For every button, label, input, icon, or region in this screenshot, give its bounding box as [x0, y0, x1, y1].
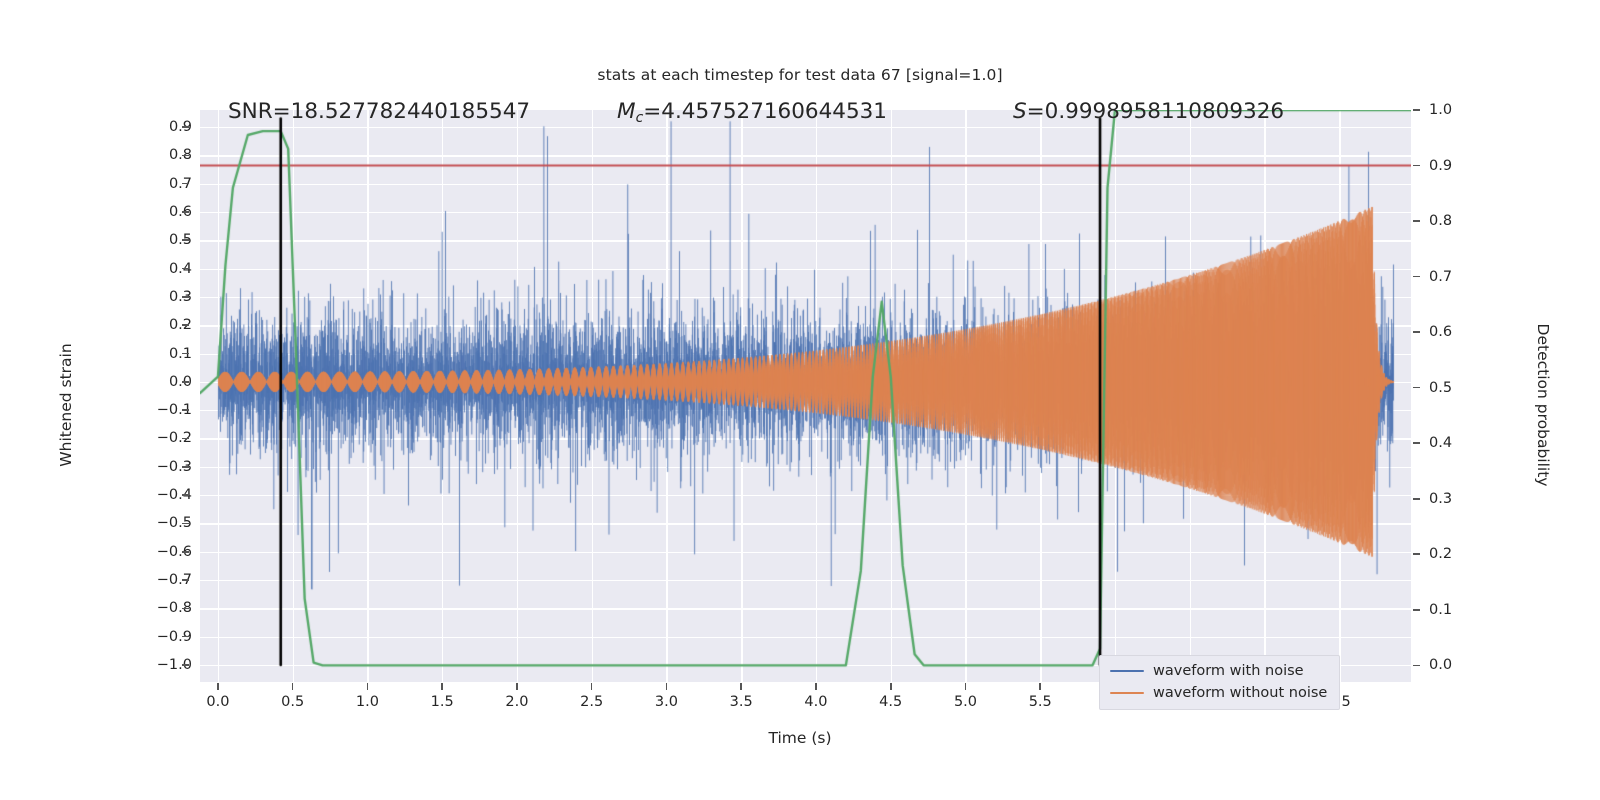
x-tick-label: 5.5 [1029, 694, 1052, 710]
y-tick-mark-left [182, 438, 189, 440]
y-tick-mark-right [1413, 109, 1420, 111]
y-tick-mark-right [1413, 498, 1420, 500]
x-tick-label: 1.0 [356, 694, 379, 710]
x-tick-mark [441, 683, 443, 690]
y-tick-mark-left [182, 551, 189, 553]
y-tick-label-right: 0.3 [1429, 491, 1452, 507]
legend-label: waveform with noise [1153, 663, 1304, 679]
overlay-layer [200, 110, 1411, 682]
x-tick-mark [217, 683, 219, 690]
x-tick-label: 5.0 [954, 694, 977, 710]
x-tick-mark [516, 683, 518, 690]
annotation-chirp-mass: Mc=4.457527160644531 [617, 99, 887, 126]
y-tick-mark-left [182, 211, 189, 213]
y-tick-label-right: 0.1 [1429, 602, 1452, 618]
annotation-mc-value: 4.457527160644531 [661, 99, 887, 124]
x-tick-label: 3.0 [655, 694, 678, 710]
y-tick-mark-left [182, 296, 189, 298]
legend-color-swatch [1110, 692, 1144, 695]
annotation-s-value: 0.9998958110809326 [1045, 99, 1284, 124]
y-tick-mark-left [182, 381, 189, 383]
y-tick-mark-left [182, 466, 189, 468]
y-tick-mark-right [1413, 276, 1420, 278]
annotation-snr: SNR=18.527782440185547 [228, 99, 530, 124]
annotation-mc-symbol: M [617, 99, 636, 124]
y-tick-mark-left [182, 155, 189, 157]
y-tick-label-right: 1.0 [1429, 102, 1452, 118]
annotation-s-symbol: S [1013, 99, 1027, 124]
y-tick-mark-right [1413, 387, 1420, 389]
y-tick-mark-right [1413, 165, 1420, 167]
x-tick-label: 3.5 [730, 694, 753, 710]
x-tick-mark [815, 683, 817, 690]
legend-item[interactable]: waveform with noise [1110, 663, 1327, 679]
y-tick-label-right: 0.8 [1429, 213, 1452, 229]
plot-area [200, 110, 1411, 682]
y-tick-label-right: 0.7 [1429, 269, 1452, 285]
y-tick-mark-left [182, 268, 189, 270]
y-tick-mark-left [182, 239, 189, 241]
y-tick-mark-left [182, 523, 189, 525]
y-tick-label-right: 0.9 [1429, 158, 1452, 174]
y-tick-label-right: 0.5 [1429, 380, 1452, 396]
x-tick-mark [666, 683, 668, 690]
chart-title: stats at each timestep for test data 67 … [0, 66, 1600, 84]
y-tick-label-right: 0.6 [1429, 324, 1452, 340]
annotation-s-equals: = [1027, 99, 1045, 124]
x-tick-mark [591, 683, 593, 690]
x-tick-mark [890, 683, 892, 690]
y-tick-mark-right [1413, 220, 1420, 222]
x-tick-mark [292, 683, 294, 690]
y-tick-mark-left [182, 664, 189, 666]
x-tick-mark [740, 683, 742, 690]
y-tick-mark-right [1413, 331, 1420, 333]
y-tick-mark-right [1413, 442, 1420, 444]
y-tick-label-right: 0.0 [1429, 657, 1452, 673]
annotation-score: S=0.9998958110809326 [1013, 99, 1284, 124]
y-tick-mark-left [182, 183, 189, 185]
y-tick-mark-right [1413, 665, 1420, 667]
y-axis-label-right: Detection probability [1534, 275, 1552, 535]
legend-item[interactable]: waveform without noise [1110, 685, 1327, 701]
x-tick-label: 4.0 [804, 694, 827, 710]
y-tick-mark-left [182, 409, 189, 411]
y-tick-mark-left [182, 636, 189, 638]
y-tick-mark-right [1413, 609, 1420, 611]
y-tick-label-right: 0.4 [1429, 435, 1452, 451]
y-tick-label-right: 0.2 [1429, 546, 1452, 562]
x-tick-label: 4.5 [879, 694, 902, 710]
annotation-snr-text: SNR=18.527782440185547 [228, 99, 530, 124]
y-tick-mark-left [182, 494, 189, 496]
x-tick-label: 2.0 [505, 694, 528, 710]
x-tick-mark [367, 683, 369, 690]
x-tick-mark [1039, 683, 1041, 690]
figure-canvas: stats at each timestep for test data 67 … [0, 0, 1600, 800]
y-axis-label-left: Whitened strain [57, 275, 75, 535]
x-tick-mark [965, 683, 967, 690]
x-tick-label: 1.5 [431, 694, 454, 710]
annotation-mc-equals: = [643, 99, 661, 124]
y-tick-mark-left [182, 126, 189, 128]
legend: waveform with noisewaveform without nois… [1099, 655, 1340, 710]
x-axis-label: Time (s) [0, 729, 1600, 747]
legend-label: waveform without noise [1153, 685, 1327, 701]
x-tick-label: 2.5 [580, 694, 603, 710]
y-tick-mark-left [182, 353, 189, 355]
x-tick-label: 0.0 [206, 694, 229, 710]
y-tick-mark-left [182, 324, 189, 326]
y-tick-mark-left [182, 608, 189, 610]
legend-color-swatch [1110, 670, 1144, 673]
y-tick-mark-right [1413, 553, 1420, 555]
x-tick-label: 0.5 [281, 694, 304, 710]
y-tick-mark-left [182, 579, 189, 581]
